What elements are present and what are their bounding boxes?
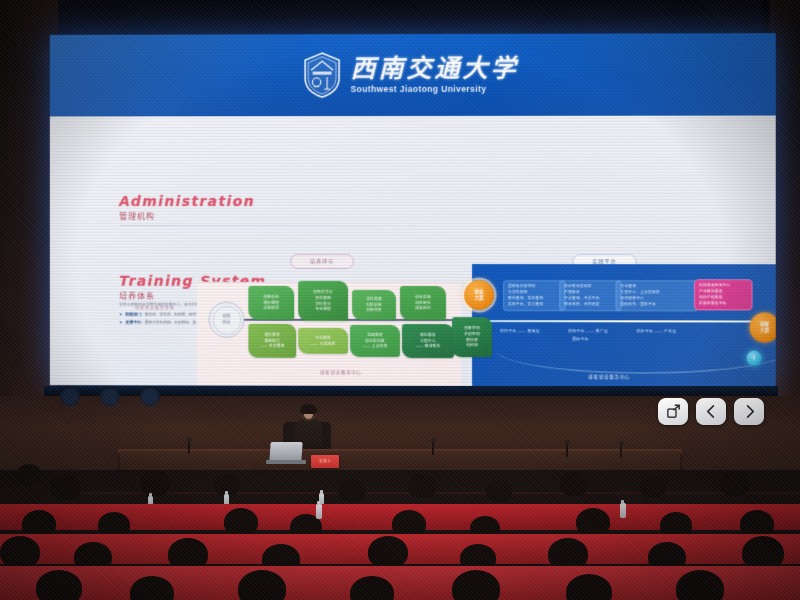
box-line: 产业孵化服务 [699, 289, 747, 294]
section-administration: Administration 管理机构 [119, 194, 458, 226]
box-line: 科技园 [466, 343, 478, 348]
node-line-1: 创新 [223, 314, 231, 320]
box-line: 实践教育 [367, 333, 383, 338]
box-line: 产教融合 [564, 290, 616, 295]
training-box: 创新方法与 创业基础 学科前沿 专业课程 [298, 281, 348, 321]
audience-head [742, 536, 784, 570]
node-line-2: 创业 [223, 320, 231, 326]
box-line: 校企联合实验室 [564, 284, 616, 289]
bullet-marker-icon: ➤ [119, 311, 122, 317]
platform-label: 校地平台 —— 推广层 [568, 329, 608, 334]
university-name-en: Southwest Jiaotong University [351, 85, 519, 94]
audience-head [452, 570, 500, 600]
chevron-left-icon [704, 404, 719, 419]
box-line: 训练项目 [366, 308, 382, 313]
microphone-icon [620, 444, 622, 458]
box-line: 行业基地 [621, 284, 693, 289]
badge-line: 大赛 [474, 295, 483, 301]
audience-head [560, 472, 588, 496]
platform-box: 校企联合实验室 产教融合 中试基地、中试平台 联合培养、合作研发 [559, 280, 621, 311]
box-line: 科技创新 [366, 303, 382, 308]
audience-head [0, 536, 40, 568]
training-box: 实践教育 创业实训营 —— 重点扶持 [350, 325, 400, 357]
box-line: 国际合作、国家平台 [621, 302, 693, 307]
water-bottle [620, 503, 626, 518]
audience-head [50, 474, 80, 500]
box-line: 通识课程 [264, 300, 280, 305]
bullet-marker-icon: ➤ [119, 320, 122, 326]
presentation-controls [658, 398, 764, 425]
microphone-icon [566, 443, 568, 457]
box-line: 孵化基地、实训基地 [508, 296, 560, 301]
namecard-label: 主讲人 [311, 459, 339, 464]
box-line: 创业实训营 [365, 338, 384, 343]
audience-head [338, 478, 366, 502]
box-line: 基础能力 [265, 338, 281, 343]
led-screen: 西南交通大学 Southwest Jiaotong University Adm… [50, 33, 776, 387]
audience-head [486, 480, 512, 502]
laptop-base [266, 460, 306, 464]
audience-head [36, 570, 82, 600]
speaker-dot [60, 386, 80, 406]
audience-head [368, 536, 408, 568]
training-panel-caption: 创新创业教育中心 [320, 370, 361, 376]
box-line: —— 分类培养 [311, 341, 336, 346]
platform-green-box: 创客空间 众创空间 孵化器 科技园 [452, 317, 492, 357]
previous-button[interactable] [696, 398, 726, 425]
microphone-icon [432, 441, 434, 455]
box-line: 学科竞赛 [366, 297, 382, 302]
university-name-cn: 西南交通大学 [351, 57, 519, 82]
box-line: 协同创新中心 [621, 296, 693, 301]
university-brand: 西南交通大学 Southwest Jiaotong University [304, 52, 519, 98]
platform-panel-caption: 创新创业服务中心 [588, 374, 630, 380]
info-label: i [753, 355, 755, 362]
audience-head [140, 470, 170, 496]
tab-training-stage[interactable]: 培养环节 [290, 254, 354, 269]
training-box: 通识教育 基础能力 —— 全员覆盖 [248, 324, 296, 358]
training-center-node: 创新 创业 [209, 302, 245, 338]
box-line: 必修模块 [264, 306, 280, 311]
box-line: 科技成果转化中心 [699, 283, 747, 288]
divider [119, 225, 458, 226]
box-line: 工程中心、重点实验室 [621, 290, 693, 295]
training-box: 专业教育 —— 分类培养 [298, 328, 348, 354]
training-box: 创新创业 通识课程 必修模块 [248, 286, 294, 320]
audience-head [16, 464, 42, 486]
audience-head [408, 474, 436, 498]
share-icon [666, 404, 681, 419]
audience-head [238, 570, 286, 600]
training-box: 孵化服务 工程中心 —— 精准帮扶 [402, 324, 454, 358]
laptop [269, 442, 302, 462]
box-line: 创业实践 [415, 295, 431, 300]
stage-speaker-dots [60, 386, 160, 406]
box-line: 联合培养、合作研发 [564, 302, 616, 307]
box-line: 国家级众创空间 [508, 284, 560, 289]
box-line: 学科前沿 [315, 301, 331, 306]
box-line: 专业课程 [315, 307, 331, 312]
box-line: —— 精准帮扶 [416, 344, 441, 349]
box-line: 通识教育 [265, 332, 281, 337]
info-icon[interactable]: i [746, 351, 761, 366]
audience-head [640, 476, 666, 498]
audience-head [576, 508, 610, 536]
water-bottle [316, 504, 322, 519]
box-line: 创新创业 [264, 295, 280, 300]
box-line: 孵化器 [466, 338, 478, 343]
box-line: 项目孵化 [415, 301, 431, 306]
tech-transfer-box: 科技成果转化中心 产业孵化服务 知识产权服务 投融资服务平台 [694, 279, 752, 310]
platform-box: 国家级众创空间 大学科技园 孵化基地、实训基地 实验平台、实习基地 [503, 280, 565, 311]
seat-row [70, 492, 800, 494]
box-line: 众创空间 [464, 332, 480, 337]
university-name-block: 西南交通大学 Southwest Jiaotong University [351, 57, 519, 94]
box-line: 创业基础 [315, 296, 331, 301]
training-box: 创业实践 项目孵化 成果转化 [400, 286, 446, 320]
box-line: 专业教育 [315, 335, 331, 340]
university-crest-icon [304, 52, 342, 98]
microphone-icon [188, 440, 190, 454]
presenter-hair [300, 404, 317, 414]
lecture-hall-photo: 西南交通大学 Southwest Jiaotong University Adm… [0, 0, 800, 600]
audience-head [676, 570, 724, 600]
slide-header: 西南交通大学 Southwest Jiaotong University [50, 33, 776, 116]
platform-box: 行业基地 工程中心、重点实验室 协同创新中心 国际合作、国家平台 [616, 280, 699, 311]
box-line: —— 重点扶持 [363, 344, 388, 349]
box-line: 知识产权服务 [699, 295, 747, 300]
ceiling-panel [42, 0, 762, 34]
box-line: 中试基地、中试平台 [564, 296, 616, 301]
badge-entrepreneurship-competition: 创业 大赛 [464, 280, 494, 310]
audience-area [0, 470, 800, 600]
next-button[interactable] [734, 398, 764, 425]
presenter-namecard: 主讲人 [311, 455, 339, 468]
audience-head [720, 470, 750, 496]
platform-label: 校内平台 —— 基础层 [500, 329, 540, 334]
box-line: —— 全员覆盖 [260, 344, 285, 349]
badge-innovation-competition: 创新 大赛 [750, 312, 776, 342]
box-line: 投融资服务平台 [699, 302, 747, 307]
administration-title-en: Administration [119, 194, 458, 210]
bullet-label: 职能部门： [126, 311, 145, 316]
badge-line: 大赛 [760, 328, 769, 334]
box-line: 工程中心 [420, 339, 436, 344]
box-line: 实验平台、实习基地 [508, 302, 560, 307]
box-line: 大学科技园 [508, 290, 560, 295]
platform-label: 国际平台 [572, 337, 588, 342]
speaker-dot [140, 386, 160, 406]
share-button[interactable] [658, 398, 688, 425]
box-line: 成果转化 [415, 306, 431, 311]
training-box: 学科竞赛 科技创新 训练项目 [352, 290, 396, 320]
audience-head [224, 508, 258, 536]
administration-title-cn: 管理机构 [119, 211, 458, 222]
speaker-dot [100, 386, 120, 406]
platform-label: 校企平台 —— 产业层 [637, 329, 677, 334]
box-line: 创新方法与 [313, 290, 332, 295]
bullet-label: 支撑平台： [126, 320, 145, 325]
box-line: 创客空间 [464, 326, 480, 331]
chevron-right-icon [742, 404, 757, 419]
training-subtitle: 创新创业教育体系 [135, 306, 175, 312]
box-line: 孵化服务 [420, 333, 436, 338]
